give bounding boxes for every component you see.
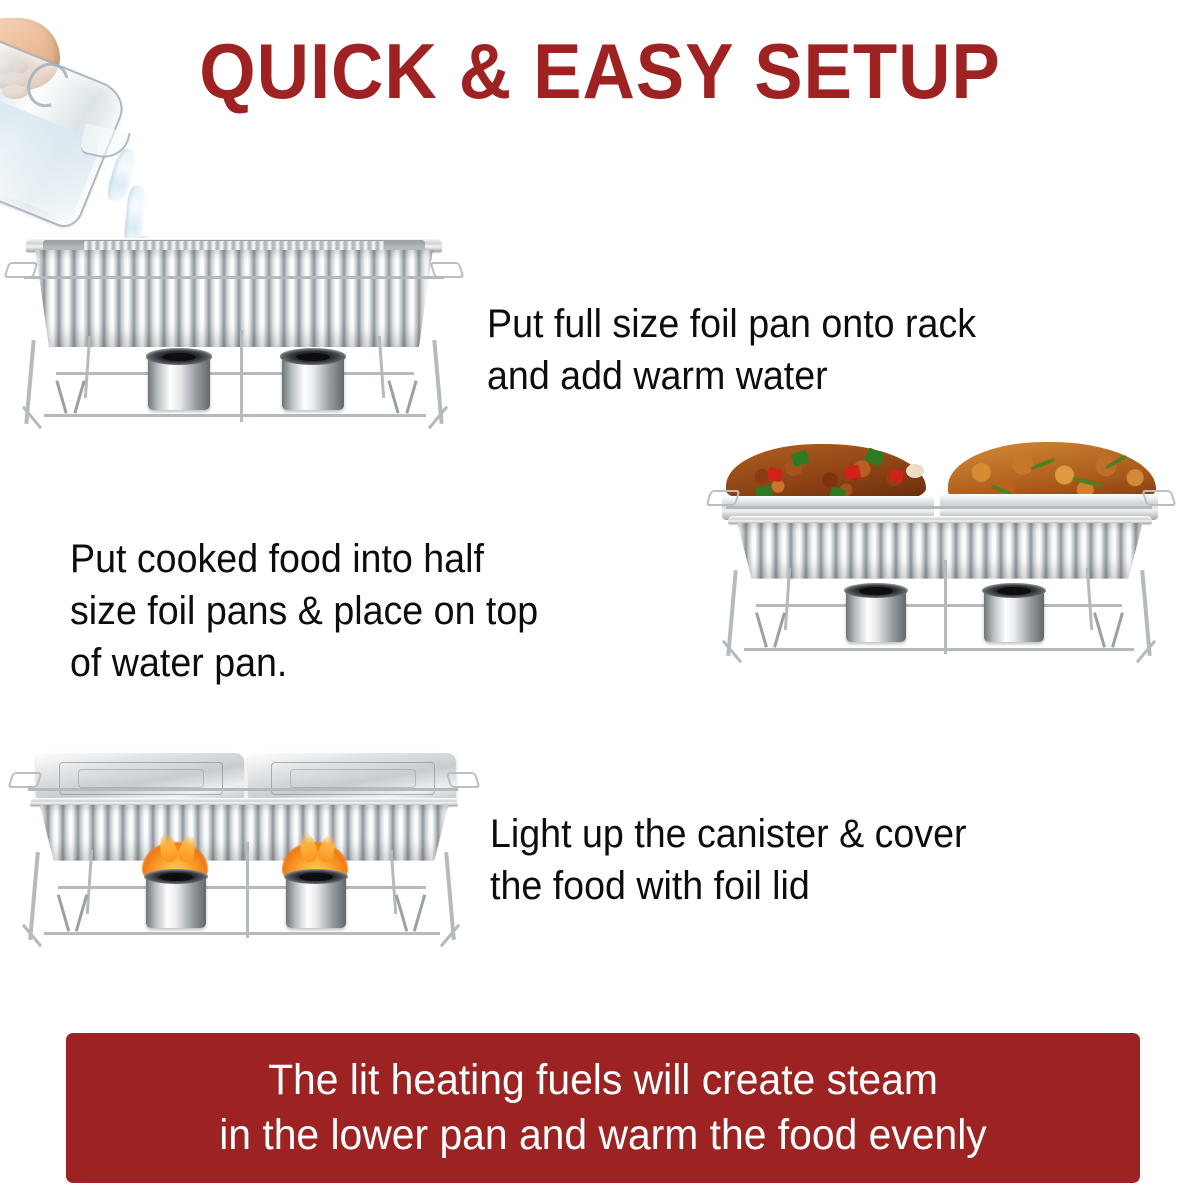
step-1-caption: Put full size foil pan onto rack and add… bbox=[487, 298, 1145, 402]
fuel-canister-right bbox=[984, 590, 1044, 642]
image-step-2-chafing-rack-with-food-pans bbox=[700, 440, 1190, 710]
fuel-canister-right bbox=[282, 356, 344, 410]
step-3-caption: Light up the canister & cover the food w… bbox=[490, 808, 1139, 912]
fuel-canister-left bbox=[846, 590, 906, 642]
lit-fuel-canister-right bbox=[286, 876, 346, 928]
wire-rack bbox=[700, 440, 1190, 710]
footer-banner: The lit heating fuels will create steam … bbox=[66, 1033, 1140, 1183]
lit-fuel-canister-left bbox=[146, 876, 206, 928]
canister-opening bbox=[299, 873, 333, 881]
canister-opening bbox=[159, 873, 193, 881]
canister-opening bbox=[997, 587, 1031, 595]
wire-rack bbox=[0, 730, 490, 980]
footer-banner-text: The lit heating fuels will create steam … bbox=[219, 1053, 987, 1163]
image-step-1-chafing-rack-with-water-pour bbox=[0, 0, 470, 430]
canister-opening bbox=[859, 587, 893, 595]
step-2-caption: Put cooked food into half size foil pans… bbox=[70, 533, 653, 689]
infographic-page: QUICK & EASY SETUP bbox=[0, 0, 1200, 1200]
image-step-3-chafing-rack-with-lids-and-flames bbox=[0, 730, 490, 980]
wire-rack bbox=[0, 0, 470, 430]
fuel-canister-left bbox=[148, 356, 210, 410]
